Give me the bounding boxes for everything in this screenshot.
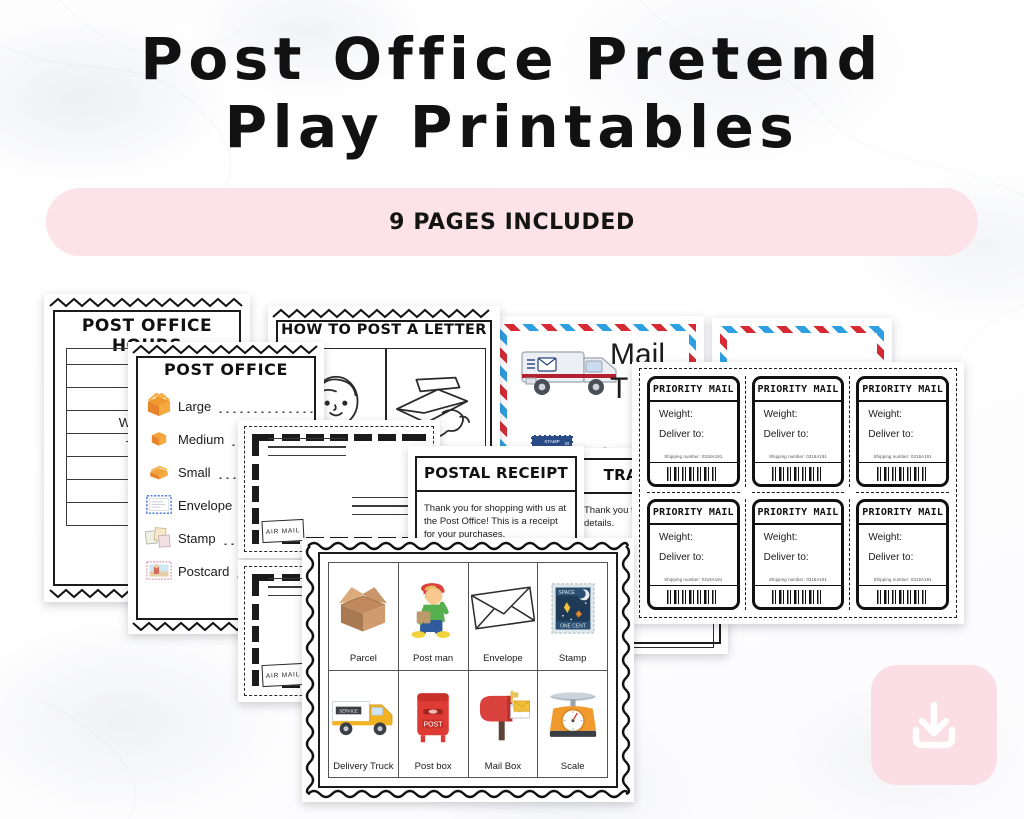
priority-label-cell[interactable]: PRIORITY MAILWeight:Deliver to:Shipping … [641, 493, 746, 616]
mail-truck-icon [518, 342, 622, 400]
priority-mail-label[interactable]: PRIORITY MAILWeight:Deliver to:Shipping … [647, 499, 740, 610]
open-cardboard-box-icon [329, 563, 398, 653]
barcode-area [859, 585, 946, 607]
barcode-icon [877, 590, 929, 604]
open-box-icon [142, 393, 176, 420]
priority-label-header: PRIORITY MAIL [859, 379, 946, 402]
priority-label-header: PRIORITY MAIL [859, 502, 946, 525]
weight-field-label: Weight: [868, 532, 902, 543]
shipping-number-text: Shipping number: 0316A191 [859, 454, 946, 459]
price-leader-dots [217, 400, 316, 413]
weight-field-label: Weight: [764, 532, 798, 543]
deliver-to-field-label: Deliver to: [659, 429, 704, 440]
barcode-area [859, 462, 946, 484]
vocabulary-card[interactable]: Mail Box [469, 671, 539, 779]
shipping-number-text: Shipping number: 0316A191 [755, 577, 842, 582]
pages-included-text: 9 PAGES INCLUDED [389, 210, 635, 235]
svg-text:POST: POST [424, 721, 444, 728]
svg-text:ONE CENT: ONE CENT [560, 623, 586, 629]
sheet-vocabulary-cards[interactable]: ParcelPost manEnvelopeSPACEONE CENTStamp… [302, 538, 634, 802]
priority-mail-label[interactable]: PRIORITY MAILWeight:Deliver to:Shipping … [856, 499, 949, 610]
barcode-area [755, 585, 842, 607]
svg-text:SPACE: SPACE [558, 589, 575, 595]
barcode-icon [772, 590, 824, 604]
stamps-icon [142, 526, 176, 551]
priority-label-heading: PRIORITY MAIL [653, 384, 734, 395]
deliver-to-field-label: Deliver to: [868, 429, 913, 440]
vocabulary-card[interactable]: SERVICEDelivery Truck [329, 671, 399, 779]
pages-included-banner: 9 PAGES INCLUDED [46, 188, 978, 256]
vocabulary-card[interactable]: POSTPost box [399, 671, 469, 779]
envelope-address-lines [268, 438, 346, 463]
price-row: Large [142, 390, 316, 423]
mailbox-icon [469, 671, 538, 761]
priority-label-heading: PRIORITY MAIL [653, 507, 734, 518]
barcode-icon [667, 467, 719, 481]
priority-label-grid: PRIORITY MAILWeight:Deliver to:Shipping … [641, 370, 955, 616]
price-item-label: Large [178, 399, 211, 414]
shipping-number-text: Shipping number: 0316A191 [755, 454, 842, 459]
postcard-icon [142, 561, 176, 583]
receipt-header: POSTAL RECEIPT [415, 456, 577, 492]
barcode-area [650, 462, 737, 484]
priority-label-header: PRIORITY MAIL [755, 379, 842, 402]
red-post-box-icon: POST [399, 671, 468, 761]
barcode-area [650, 585, 737, 607]
weight-field-label: Weight: [659, 409, 693, 420]
receipt-body-text: Thank you for shopping with us at the Po… [424, 502, 570, 541]
vocabulary-card-label: Stamp [559, 653, 586, 664]
priority-label-cell[interactable]: PRIORITY MAILWeight:Deliver to:Shipping … [850, 370, 955, 493]
vocabulary-card-label: Post man [413, 653, 453, 664]
vocabulary-card-grid: ParcelPost manEnvelopeSPACEONE CENTStamp… [328, 562, 608, 778]
price-item-label: Stamp [178, 531, 216, 546]
vocabulary-card-label: Parcel [350, 653, 377, 664]
vocabulary-card-label: Mail Box [485, 761, 521, 772]
vocabulary-card-label: Scale [561, 761, 585, 772]
priority-label-header: PRIORITY MAIL [755, 502, 842, 525]
sheet-priority-mail-labels[interactable]: PRIORITY MAILWeight:Deliver to:Shipping … [632, 362, 964, 624]
priority-label-header: PRIORITY MAIL [650, 379, 737, 402]
priority-mail-label[interactable]: PRIORITY MAILWeight:Deliver to:Shipping … [647, 376, 740, 487]
priority-mail-label[interactable]: PRIORITY MAILWeight:Deliver to:Shipping … [856, 376, 949, 487]
priority-mail-label[interactable]: PRIORITY MAILWeight:Deliver to:Shipping … [752, 376, 845, 487]
shipping-number-text: Shipping number: 0316A191 [859, 577, 946, 582]
vocabulary-card[interactable]: Envelope [469, 563, 539, 671]
shipping-number-text: Shipping number: 0316A191 [650, 577, 737, 582]
deliver-to-field-label: Deliver to: [659, 552, 704, 563]
download-button[interactable] [871, 665, 997, 785]
priority-label-cell[interactable]: PRIORITY MAILWeight:Deliver to:Shipping … [641, 370, 746, 493]
deliver-to-field-label: Deliver to: [764, 429, 809, 440]
shipping-number-text: Shipping number: 0316A191 [650, 454, 737, 459]
priority-label-heading: PRIORITY MAIL [758, 384, 839, 395]
priority-label-cell[interactable]: PRIORITY MAILWeight:Deliver to:Shipping … [746, 493, 851, 616]
barcode-area [755, 462, 842, 484]
page-header: Post Office Pretend Play Printables [0, 0, 1024, 160]
small-box-icon [142, 461, 176, 485]
air-mail-stamp: AIR MAIL [261, 519, 304, 543]
priority-label-cell[interactable]: PRIORITY MAILWeight:Deliver to:Shipping … [746, 370, 851, 493]
vocabulary-card-label: Post box [415, 761, 452, 772]
weight-field-label: Weight: [764, 409, 798, 420]
deliver-to-field-label: Deliver to: [868, 552, 913, 563]
priority-label-header: PRIORITY MAIL [650, 502, 737, 525]
download-icon [903, 694, 965, 756]
howto-title: HOW TO POST A LETTER [268, 322, 500, 338]
closed-box-icon [142, 428, 176, 452]
priority-label-heading: PRIORITY MAIL [758, 507, 839, 518]
priority-label-cell[interactable]: PRIORITY MAILWeight:Deliver to:Shipping … [850, 493, 955, 616]
prices-title: POST OFFICE [128, 360, 324, 379]
weight-field-label: Weight: [659, 532, 693, 543]
svg-text:STAMP: STAMP [544, 439, 559, 444]
priority-mail-label[interactable]: PRIORITY MAILWeight:Deliver to:Shipping … [752, 499, 845, 610]
price-item-label: Small [178, 465, 211, 480]
priority-label-heading: PRIORITY MAIL [862, 384, 943, 395]
vocabulary-card-label: Envelope [483, 653, 523, 664]
kitchen-scale-icon [538, 671, 607, 761]
page-title-line-2: Play Printables [0, 94, 1024, 160]
price-item-label: Postcard [178, 564, 229, 579]
space-stamp-icon: SPACEONE CENT [538, 563, 607, 653]
price-item-label: Medium [178, 432, 224, 447]
vocabulary-card[interactable]: Post man [399, 563, 469, 671]
vocabulary-card[interactable]: SPACEONE CENTStamp [538, 563, 608, 671]
delivery-truck-icon: SERVICE [329, 671, 398, 761]
receipt-title: POSTAL RECEIPT [424, 464, 568, 482]
postman-icon [399, 563, 468, 653]
barcode-icon [877, 467, 929, 481]
white-envelope-icon [469, 563, 538, 653]
air-mail-stamp: AIR MAIL [261, 663, 304, 687]
mailtracking-subtitle: T [610, 374, 628, 404]
priority-label-heading: PRIORITY MAIL [862, 507, 943, 518]
page-title-line-1: Post Office Pretend [0, 26, 1024, 92]
barcode-icon [772, 467, 824, 481]
price-item-label: Envelope [178, 498, 232, 513]
envelope-icon [142, 495, 176, 517]
svg-text:SERVICE: SERVICE [340, 708, 359, 713]
barcode-icon [667, 590, 719, 604]
vocabulary-card[interactable]: Parcel [329, 563, 399, 671]
deliver-to-field-label: Deliver to: [764, 552, 809, 563]
vocabulary-card-label: Delivery Truck [333, 761, 393, 772]
weight-field-label: Weight: [868, 409, 902, 420]
vocabulary-card[interactable]: Scale [538, 671, 608, 779]
